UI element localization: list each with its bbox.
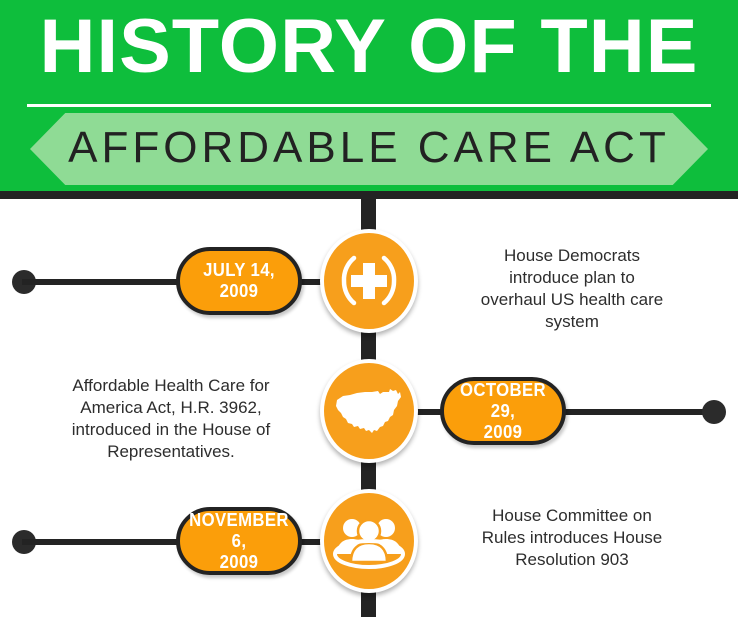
date-badge[interactable]: OCTOBER 29, 2009	[440, 377, 566, 445]
event-description: Affordable Health Care for America Act, …	[46, 375, 296, 463]
event-icon-medallion[interactable]	[320, 229, 418, 333]
people-group-icon	[332, 510, 406, 572]
event-description: House Democrats introduce plan to overha…	[447, 245, 697, 333]
timeline-row: NOVEMBER 6, 2009 House Com	[0, 477, 738, 607]
medical-cross-icon	[332, 244, 406, 318]
us-map-icon	[333, 386, 405, 436]
timeline-row: JULY 14, 2009 House Democrats introduce …	[0, 217, 738, 347]
page-subtitle: AFFORDABLE CARE ACT	[0, 119, 738, 177]
date-badge-label: NOVEMBER 6, 2009	[184, 510, 294, 573]
timeline-row: OCTOBER 29, 2009 Affordable Health Care …	[0, 347, 738, 477]
event-icon-medallion[interactable]	[320, 359, 418, 463]
title-divider-rule	[27, 104, 711, 107]
connector-end-dot	[702, 400, 726, 424]
date-badge-label: OCTOBER 29, 2009	[448, 380, 558, 443]
event-icon-medallion[interactable]	[320, 489, 418, 593]
header-band: HISTORY OF THE AFFORDABLE CARE ACT	[0, 0, 738, 191]
page-title: HISTORY OF THE	[0, 6, 738, 88]
header-bottom-bar	[0, 191, 738, 199]
event-description: House Committee on Rules introduces Hous…	[447, 505, 697, 571]
date-badge[interactable]: NOVEMBER 6, 2009	[176, 507, 302, 575]
date-badge-label: JULY 14, 2009	[184, 260, 294, 302]
infographic-canvas: HISTORY OF THE AFFORDABLE CARE ACT JULY …	[0, 0, 738, 617]
date-badge[interactable]: JULY 14, 2009	[176, 247, 302, 315]
